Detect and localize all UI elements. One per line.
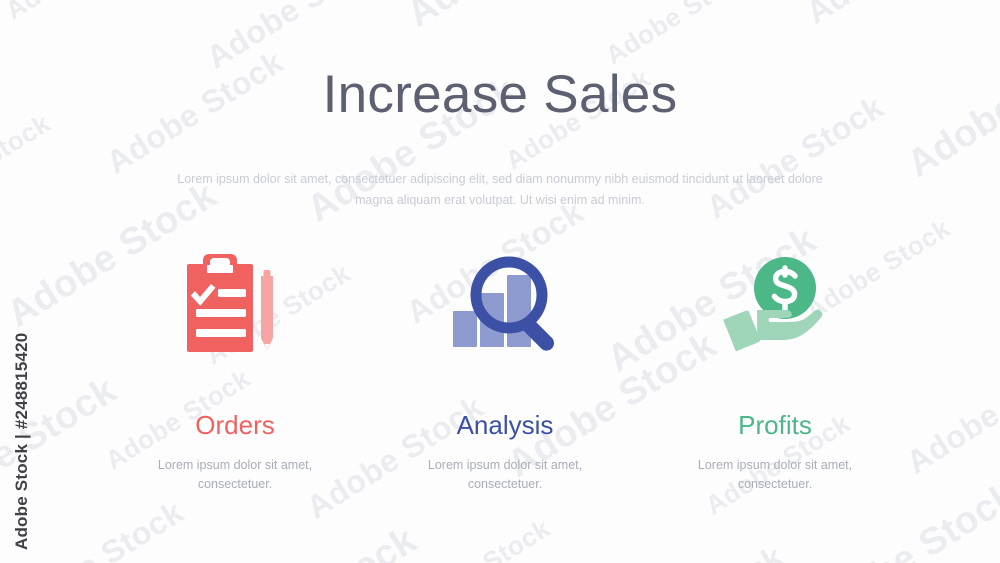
page-title: Increase Sales — [0, 66, 1000, 124]
stock-credit-sidebar: Adobe Stock | #248815420 — [0, 0, 46, 563]
feature-title-orders: Orders — [195, 411, 274, 440]
feature-description-profits: Lorem ipsum dolor sit amet, consectetuer… — [675, 456, 875, 495]
feature-description-orders: Lorem ipsum dolor sit amet, consectetuer… — [135, 456, 335, 495]
slide-canvas: Adobe StockAdobe StockAdobe StockAdobe S… — [0, 0, 1000, 563]
magnifier-bar-chart-icon — [445, 248, 565, 363]
slide-content: Increase Sales Lorem ipsum dolor sit ame… — [0, 0, 1000, 563]
feature-description-analysis: Lorem ipsum dolor sit amet, consectetuer… — [405, 456, 605, 495]
feature-column-profits[interactable]: Profits Lorem ipsum dolor sit amet, cons… — [650, 248, 900, 494]
hand-holding-dollar-coin-icon — [715, 248, 835, 363]
page-subtitle: Lorem ipsum dolor sit amet, consectetuer… — [170, 169, 830, 210]
feature-title-analysis: Analysis — [457, 411, 554, 440]
stock-credit-label: Adobe Stock | #248815420 — [12, 333, 32, 550]
feature-title-profits: Profits — [738, 411, 812, 440]
clipboard-checklist-pen-icon — [175, 248, 295, 363]
feature-columns: Orders Lorem ipsum dolor sit amet, conse… — [110, 248, 900, 494]
feature-column-orders[interactable]: Orders Lorem ipsum dolor sit amet, conse… — [110, 248, 360, 494]
feature-column-analysis[interactable]: Analysis Lorem ipsum dolor sit amet, con… — [380, 248, 630, 494]
